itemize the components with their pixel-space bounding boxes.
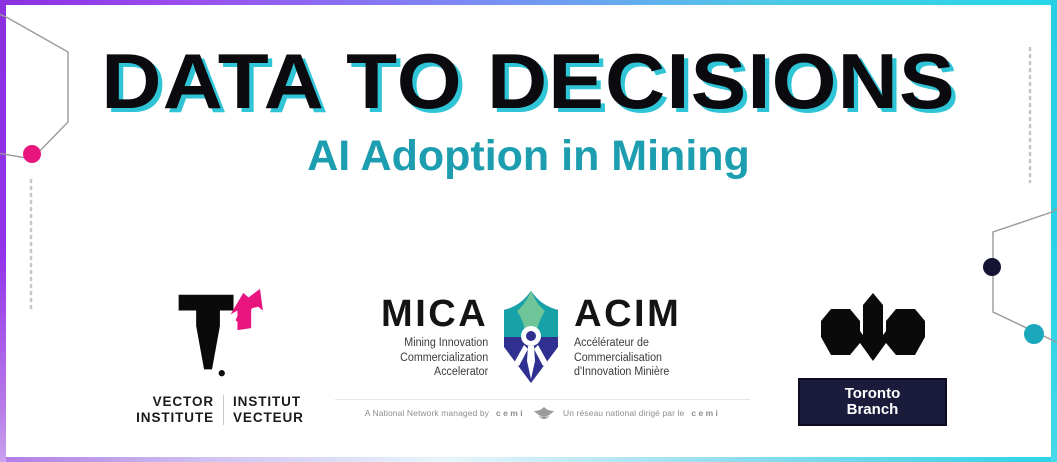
vector-wordmark: VECTOR INSTITUTE INSTITUT VECTEUR [120, 394, 320, 427]
acim-tagline-fr-line1: Accélérateur de Commercialisation [574, 336, 738, 365]
cemi-leaf-icon [532, 406, 556, 420]
cim-plaque-line2: Branch [845, 402, 901, 419]
teal-dot-icon [1024, 324, 1044, 344]
mica-footer-fr: Un réseau national dirigé par le [563, 408, 684, 418]
cim-branch-plaque: Toronto Branch [798, 378, 947, 426]
acim-tagline-fr-line2: d'Innovation Minière [574, 365, 738, 380]
mica-acronym-en: MICA [335, 295, 488, 333]
vector-v-arrow-icon [161, 285, 279, 383]
cim-toronto-branch-logo: Toronto Branch [780, 291, 965, 426]
sponsor-logo-row: VECTOR INSTITUTE INSTITUT VECTEUR MICA M… [40, 285, 1017, 445]
vector-name-fr-line2: VECTEUR [233, 410, 304, 426]
navy-dot-icon [983, 258, 1001, 276]
vector-name-en-line1: VECTOR [136, 394, 214, 410]
headline-block: DATA TO DECISIONS AI Adoption in Mining [0, 44, 1057, 179]
border-bottom [0, 457, 1057, 462]
mica-network-footer: A National Network managed by cemi Un ré… [335, 399, 750, 420]
cim-maple-leaf-icon [803, 291, 943, 369]
border-top [0, 0, 1057, 5]
vector-name-fr-line1: INSTITUT [233, 394, 304, 410]
mica-acim-logo: MICA Mining Innovation Commercialization… [335, 289, 750, 420]
vector-name-en-line2: INSTITUTE [136, 410, 214, 426]
vector-institute-logo: VECTOR INSTITUTE INSTITUT VECTEUR [120, 285, 320, 427]
mica-footer-en: A National Network managed by [365, 408, 489, 418]
page-subtitle: AI Adoption in Mining [0, 134, 1057, 179]
page-title: DATA TO DECISIONS [0, 44, 1057, 120]
event-banner: DATA TO DECISIONS AI Adoption in Mining … [0, 0, 1057, 462]
mica-shield-emblem-icon [494, 289, 568, 385]
cim-plaque-line1: Toronto [845, 386, 901, 403]
cemi-wordmark-en: cemi [496, 408, 525, 418]
mica-tagline-en-line1: Mining Innovation [346, 336, 488, 351]
vector-divider [223, 395, 224, 425]
acim-acronym-fr: ACIM [574, 295, 750, 333]
cemi-wordmark-fr: cemi [691, 408, 720, 418]
mica-tagline-en-line2: Commercialization Accelerator [346, 351, 488, 380]
